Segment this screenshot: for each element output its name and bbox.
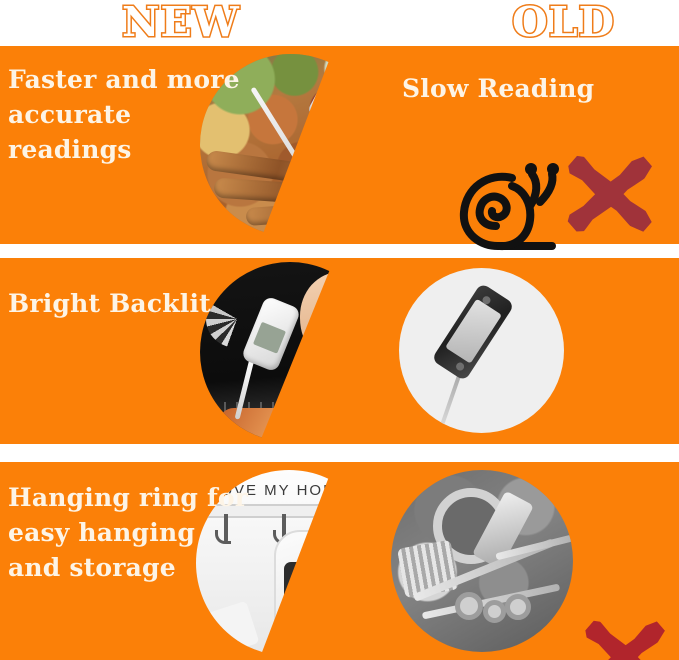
comparison-row-2: Bright Backlit: [0, 258, 679, 444]
new-feature-text-1: Faster and more accurate readings: [8, 62, 268, 167]
header-old-label: OLD: [512, 0, 615, 44]
thermometer-lcd-shape: [253, 322, 286, 354]
clutter-washer-shape: [483, 600, 506, 623]
red-x-mark-row-2: [577, 609, 672, 660]
clutter-washer-shape: [505, 594, 531, 620]
old-feature-text-1: Slow Reading: [402, 74, 594, 104]
comparison-infographic: NEW OLD Faster and more accurate reading…: [0, 0, 679, 660]
old-thermometer-screw-shape: [455, 361, 466, 372]
new-feature-text-2: Bright Backlit: [8, 286, 268, 321]
old-thermometer-photo: [399, 268, 564, 433]
header-band: NEW OLD: [0, 0, 679, 46]
comparison-row-1: Faster and more accurate readings Slow R…: [0, 46, 679, 244]
red-x-mark-row-1: [560, 144, 660, 244]
clutter-washer-shape: [455, 592, 483, 620]
new-feature-text-3: Hanging ring for easy hanging and storag…: [8, 480, 278, 585]
header-new-label: NEW: [122, 0, 240, 44]
cluttered-drawer-photo: [391, 470, 573, 652]
